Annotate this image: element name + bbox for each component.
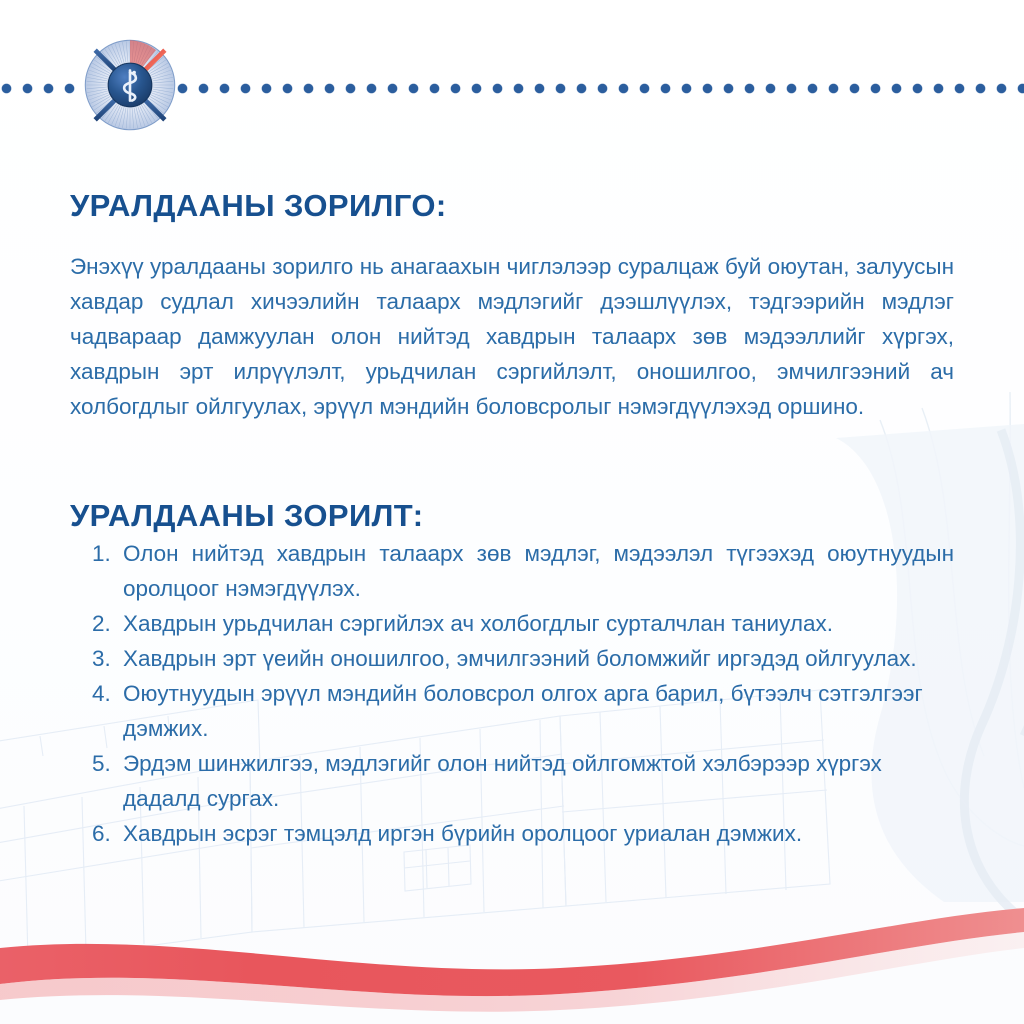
list-item-number: 5. <box>92 746 123 781</box>
slide-page: УРАЛДААНЫ ЗОРИЛГО: Энэхүү уралдааны зори… <box>0 0 1024 1024</box>
list-item: 1. Олон нийтэд хавдрын талаарх зөв мэдлэ… <box>92 536 954 606</box>
list-item-text: Хавдрын эрт үеийн оношилгоо, эмчилгээний… <box>123 641 954 676</box>
goal-section-title: УРАЛДААНЫ ЗОРИЛГО: <box>70 188 447 224</box>
task-list: 1. Олон нийтэд хавдрын талаарх зөв мэдлэ… <box>92 536 954 851</box>
list-item: 4. Оюутнуудын эрүүл мэндийн боловсрол ол… <box>92 676 954 746</box>
list-item: 3. Хавдрын эрт үеийн оношилгоо, эмчилгээ… <box>92 641 954 676</box>
list-item-number: 3. <box>92 641 123 676</box>
bottom-wave-ribbon <box>0 904 1024 1024</box>
list-item: 5. Эрдэм шинжилгээ, мэдлэгийг олон нийтэ… <box>92 746 954 816</box>
list-item: 2. Хавдрын урьдчилан сэргийлэх ач холбог… <box>92 606 954 641</box>
list-item-text: Хавдрын урьдчилан сэргийлэх ач холбогдлы… <box>123 606 954 641</box>
list-item-number: 6. <box>92 816 123 851</box>
task-section-title: УРАЛДААНЫ ЗОРИЛТ: <box>70 498 423 534</box>
list-item-text: Олон нийтэд хавдрын талаарх зөв мэдлэг, … <box>123 536 954 606</box>
list-item-text: Оюутнуудын эрүүл мэндийн боловсрол олгох… <box>123 676 954 746</box>
list-item-text: Хавдрын эсрэг тэмцэлд иргэн бүрийн оролц… <box>123 816 954 851</box>
dotted-divider-right <box>176 82 1024 95</box>
list-item-text: Эрдэм шинжилгээ, мэдлэгийг олон нийтэд о… <box>123 746 954 816</box>
medical-emblem-logo <box>78 33 182 137</box>
list-item-number: 4. <box>92 676 123 711</box>
list-item-number: 2. <box>92 606 123 641</box>
list-item: 6. Хавдрын эсрэг тэмцэлд иргэн бүрийн ор… <box>92 816 954 851</box>
goal-paragraph: Энэхүү уралдааны зорилго нь анагаахын чи… <box>70 249 954 424</box>
list-item-number: 1. <box>92 536 123 571</box>
